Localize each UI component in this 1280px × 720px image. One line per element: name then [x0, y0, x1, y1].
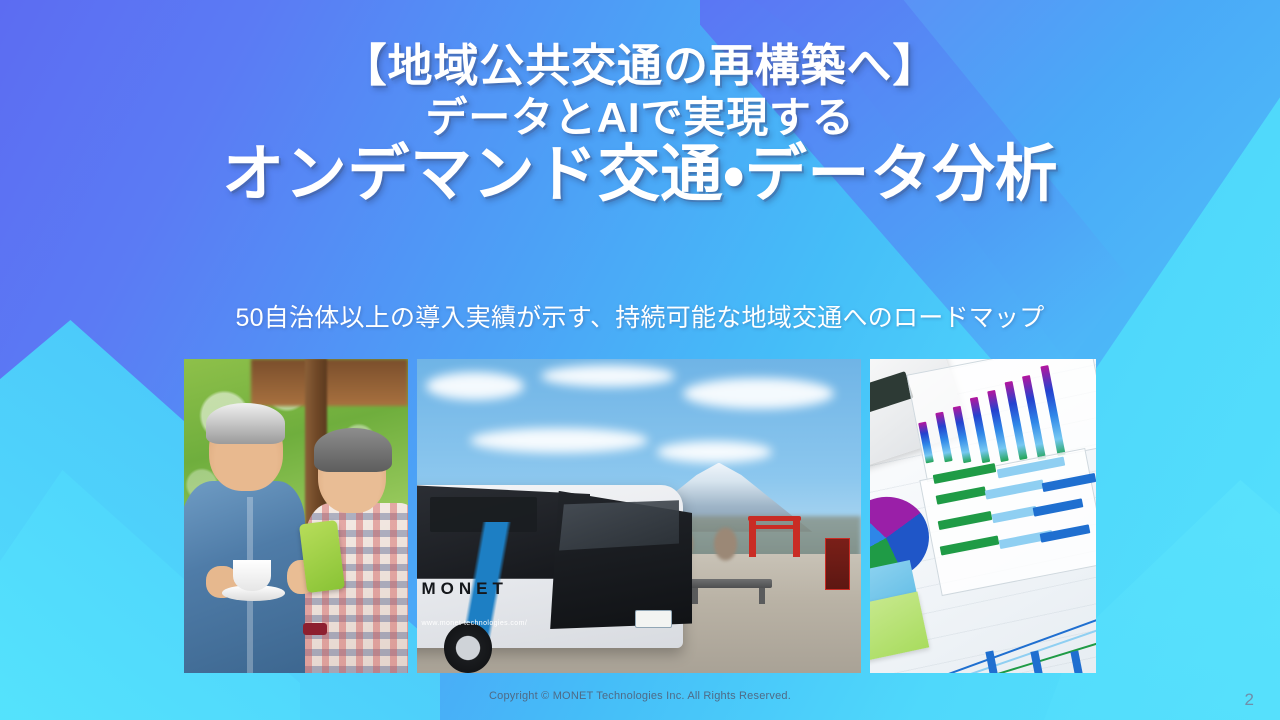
photo1-wooden-roof — [251, 359, 408, 406]
footer-copyright: Copyright © MONET Technologies Inc. All … — [0, 690, 1280, 702]
photo1-man-hair — [206, 403, 284, 444]
photo2-bench-leg — [692, 588, 698, 604]
page-number: 2 — [1245, 690, 1254, 710]
photo2-cloud — [657, 441, 772, 463]
photo1-wristband — [303, 623, 328, 636]
title-line-3: オンデマンド交通・データ分析 — [0, 142, 1280, 209]
photo2-monet-url: www.monet-technologies.com/ — [421, 620, 527, 627]
photo2-tree — [710, 522, 741, 566]
photo2-cloud — [426, 372, 524, 400]
photo-row: MONET www.monet-technologies.com/ — [184, 359, 1096, 673]
photo-elderly-couple-smartphone — [184, 359, 408, 673]
photo2-cloud — [683, 378, 834, 409]
photo2-cloud — [470, 428, 648, 453]
slide-canvas: 【地域公共交通の再構築へ】 データとAIで実現する オンデマンド交通・データ分析… — [0, 0, 1280, 720]
photo2-monet-logo: MONET — [421, 579, 507, 599]
photo2-van-wheel — [444, 623, 493, 673]
slide-title-block: 【地域公共交通の再構築へ】 データとAIで実現する オンデマンド交通・データ分析 — [0, 42, 1280, 209]
slide-subtitle: 50自治体以上の導入実績が示す、持続可能な地域交通へのロードマップ — [0, 298, 1280, 334]
photo-data-analysis-charts — [870, 359, 1096, 673]
photo-monet-van-mount-fuji: MONET www.monet-technologies.com/ — [417, 359, 861, 673]
photo2-torii-crossbeam — [748, 516, 801, 521]
photo1-woman-hair — [314, 428, 392, 472]
photo2-license-plate — [635, 610, 673, 628]
photo2-red-signboard — [825, 538, 849, 590]
photo1-green-smartphone — [299, 520, 345, 593]
photo2-bench-leg — [759, 588, 765, 604]
title-line-2: データとAIで実現する — [0, 95, 1280, 140]
photo2-bench — [683, 579, 772, 588]
title-line-1: 【地域公共交通の再構築へ】 — [0, 42, 1280, 91]
photo2-cloud — [541, 365, 674, 387]
photo2-van-windshield — [559, 500, 679, 550]
photo2-torii-crossbeam-lower — [754, 525, 794, 529]
